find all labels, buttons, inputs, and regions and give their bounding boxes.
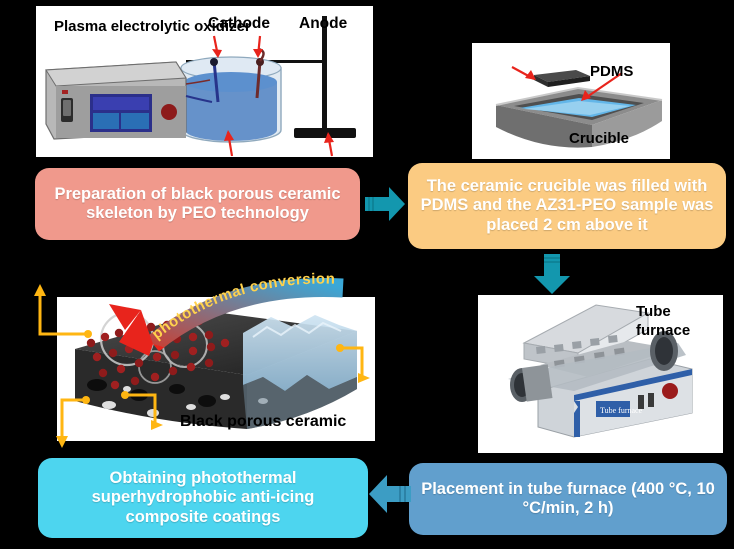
tube-furnace-label-line2: furnace (636, 322, 690, 341)
arrow-peo-to-pdms-icon (363, 182, 407, 226)
tube-furnace-label-line1: Tube (636, 303, 690, 322)
figure-plasma-electrolytic-oxidizer: Plasma electrolytic oxidizer Cathode Ano… (36, 6, 373, 157)
black-porous-ceramic-label: Black porous ceramic (180, 413, 346, 431)
step-box-tube-furnace[interactable]: Placement in tube furnace (400 °C, 10 °C… (409, 463, 727, 535)
figure-tube-furnace: Tube furnace Tube furnace (478, 295, 723, 453)
step-box-peo[interactable]: Preparation of black porous ceramic skel… (35, 168, 360, 240)
arrow-pdms-to-furnace-icon (530, 252, 574, 296)
step-box-final-coating[interactable]: Obtaining photothermal superhydrophobic … (38, 458, 368, 538)
diagram-canvas: Plasma electrolytic oxidizer Cathode Ano… (0, 0, 734, 549)
step-box-pdms-crucible[interactable]: The ceramic crucible was filled with PDM… (408, 163, 726, 249)
furnace-panel-badge: Tube furnace (600, 406, 643, 415)
cathode-label: Cathode (208, 15, 270, 33)
photothermal-conversion-arc: photothermal conversion (95, 272, 360, 362)
figure-crucible-pdms: PDMS Crucible (472, 43, 670, 159)
pdms-label: PDMS (590, 63, 633, 80)
peo-figure-caption: Plasma electrolytic oxidizer (54, 18, 204, 35)
tube-furnace-label: Tube furnace (636, 303, 690, 341)
anode-label: Anode (299, 15, 347, 33)
arrow-furnace-to-coating-icon (365, 470, 413, 518)
crucible-label: Crucible (569, 130, 629, 147)
